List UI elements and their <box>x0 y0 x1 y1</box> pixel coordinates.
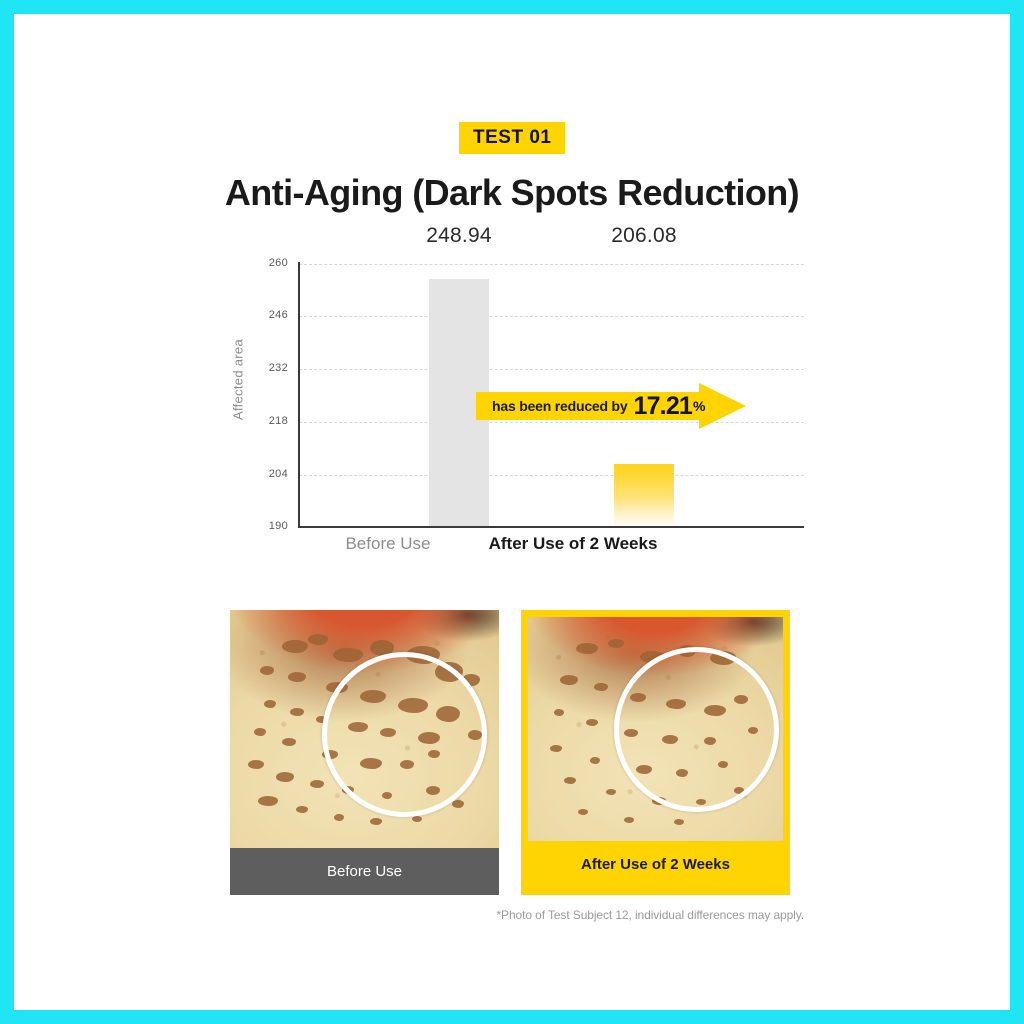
x-axis-line <box>298 526 804 528</box>
y-tick-260: 260 <box>232 257 288 269</box>
content-frame: TEST 01 Anti-Aging (Dark Spots Reduction… <box>14 14 1010 1010</box>
bar-value-before: 248.94 <box>389 224 529 248</box>
bar-value-after: 206.08 <box>574 224 714 248</box>
arrow-text: has been reduced by 17.21 % <box>492 383 705 429</box>
arrow-lead-text: has been reduced by <box>492 398 627 414</box>
x-label-after-use: After Use of 2 Weeks <box>473 534 673 554</box>
skin-photo-before <box>230 610 499 848</box>
x-label-before-use: Before Use <box>288 534 488 554</box>
reduction-arrow-annotation: has been reduced by 17.21 % <box>476 383 746 429</box>
y-tick-232: 232 <box>232 362 288 374</box>
photo-card-before: Before Use <box>230 610 499 895</box>
test-number-badge: TEST 01 <box>459 122 565 154</box>
footnote: *Photo of Test Subject 12, individual di… <box>14 908 804 922</box>
bar-after-use <box>614 464 674 526</box>
plot-area: 248.94 206.08 has been reduced by 17.21 … <box>299 264 804 526</box>
y-tick-246: 246 <box>232 309 288 321</box>
arrow-percent: % <box>693 398 705 414</box>
arrow-value: 17.21 <box>633 392 692 421</box>
y-tick-218: 218 <box>232 415 288 427</box>
skin-photo-after <box>528 617 783 841</box>
photo-caption-after: After Use of 2 Weeks <box>528 841 783 888</box>
zoom-circle-overlay <box>614 647 779 812</box>
y-tick-204: 204 <box>232 468 288 480</box>
y-tick-190: 190 <box>232 520 288 532</box>
page-title: Anti-Aging (Dark Spots Reduction) <box>14 172 1010 214</box>
zoom-circle-overlay <box>322 652 487 817</box>
photo-caption-before: Before Use <box>230 848 499 895</box>
bar-chart: Affected area 260 246 232 218 204 190 24… <box>228 252 824 572</box>
photo-card-after: After Use of 2 Weeks <box>521 610 790 895</box>
